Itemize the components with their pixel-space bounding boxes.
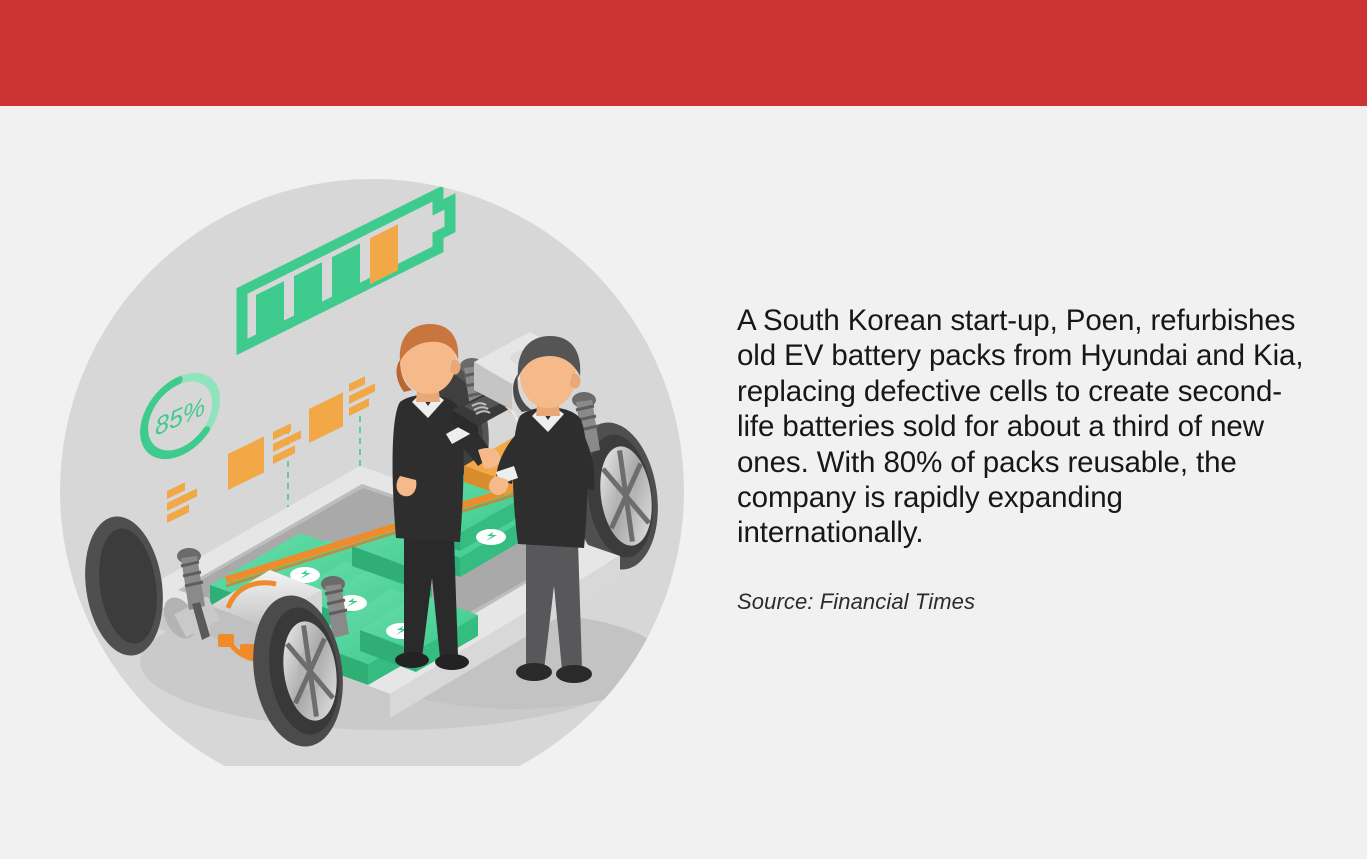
text-panel: A South Korean start-up, Poen, refurbish… [737, 303, 1312, 615]
slide-canvas: 85% [0, 106, 1367, 859]
left-tech-shoe-b [435, 654, 469, 670]
source-attribution: Source: Financial Times [737, 589, 1312, 615]
ev-battery-illustration: 85% [60, 166, 710, 766]
cell-badge [476, 529, 506, 545]
right-tech-shoe-a [516, 663, 552, 681]
right-tech-shoe-b [556, 665, 592, 683]
body-copy: A South Korean start-up, Poen, refurbish… [737, 303, 1312, 551]
left-tech-shoe-a [395, 652, 429, 668]
top-accent-bar [0, 0, 1367, 106]
